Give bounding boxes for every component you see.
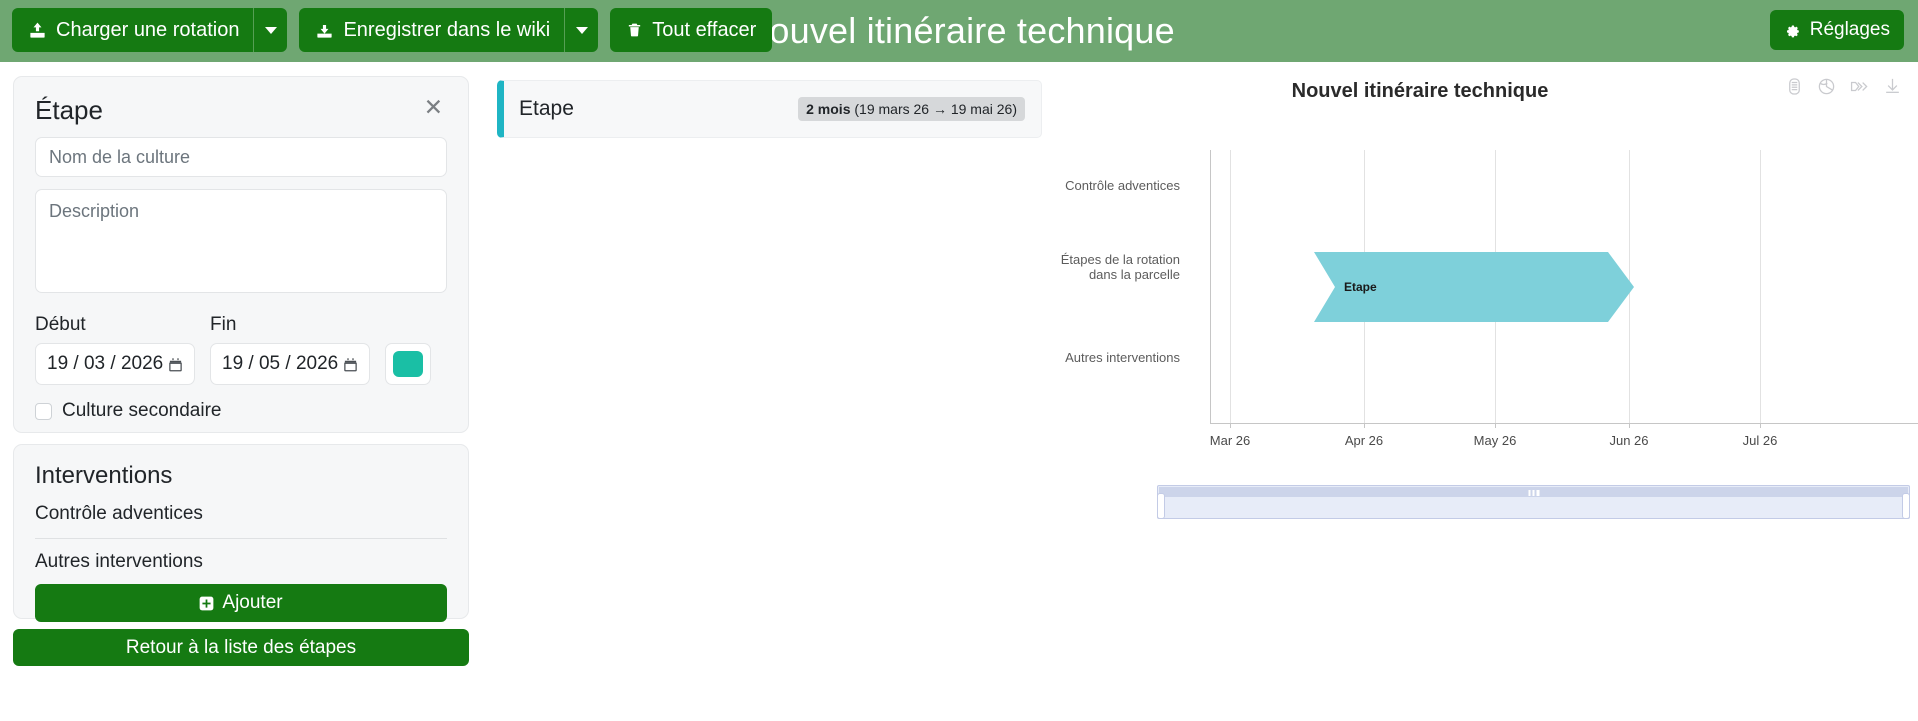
add-intervention-label: Ajouter [222, 592, 282, 614]
range-slider-bar[interactable] [1159, 487, 1908, 497]
end-date-input[interactable]: 19 / 05 / 2026 [210, 343, 370, 385]
step-date-range: (19 mars 26 → 19 mai 26) [850, 101, 1017, 117]
culture-name-input[interactable] [35, 137, 447, 177]
x-axis-tick-label-2: May 26 [1474, 433, 1517, 448]
secondary-culture-checkbox[interactable] [35, 403, 52, 420]
chevron-down-icon [265, 27, 277, 34]
x-axis-line [1210, 423, 1918, 424]
upload-icon [28, 21, 47, 40]
x-tick-4 [1760, 423, 1761, 428]
y-axis-label-2: Autres interventions [1050, 350, 1180, 365]
toolbar-right-group: Réglages [1770, 10, 1904, 50]
chevron-down-icon [576, 27, 588, 34]
add-intervention-button[interactable]: Ajouter [35, 584, 447, 622]
start-date-value: 19 / 03 / 2026 [47, 353, 163, 375]
interventions-title: Interventions [35, 462, 447, 490]
x-axis-tick-label-4: Jul 26 [1743, 433, 1778, 448]
gear-icon [1784, 22, 1801, 39]
step-duration-value: 2 mois [806, 101, 850, 117]
gantt-chart: Nouvel itinéraire technique [1040, 62, 1918, 542]
load-rotation-button[interactable]: Charger une rotation [12, 8, 253, 52]
x-axis-tick-label-0: Mar 26 [1210, 433, 1250, 448]
start-date-label: Début [35, 314, 195, 336]
y-axis-label-1: Étapes de la rotation dans la parcelle [1050, 252, 1180, 283]
start-date-input[interactable]: 19 / 03 / 2026 [35, 343, 195, 385]
y-axis-label-0: Contrôle adventices [1050, 178, 1180, 193]
x-tick-3 [1629, 423, 1630, 428]
download-icon[interactable] [1883, 76, 1902, 96]
load-rotation-split-button: Charger une rotation [12, 8, 287, 52]
step-panel-header: Étape ✕ [35, 97, 447, 123]
clear-all-label: Tout effacer [652, 19, 756, 42]
date-range-row: Début 19 / 03 / 2026 Fin 19 / 05 / 2026 [35, 314, 447, 385]
load-rotation-label: Charger une rotation [56, 19, 239, 42]
back-to-steps-button[interactable]: Retour à la liste des étapes [13, 629, 469, 666]
step-panel-title: Étape [35, 97, 103, 123]
secondary-culture-label: Culture secondaire [62, 400, 221, 422]
calendar-icon [343, 357, 358, 372]
trash-icon [626, 21, 643, 39]
chart-range-slider[interactable] [1157, 485, 1910, 525]
end-date-label: Fin [210, 314, 370, 336]
end-date-value: 19 / 05 / 2026 [222, 353, 338, 375]
settings-button[interactable]: Réglages [1770, 10, 1904, 50]
top-toolbar: Nouvel itinéraire technique Charger une … [0, 0, 1918, 62]
y-axis-line [1210, 150, 1211, 423]
description-input[interactable] [35, 189, 447, 293]
interventions-panel: Interventions Contrôle adventices Autres… [13, 444, 469, 619]
x-tick-2 [1495, 423, 1496, 428]
list-icon[interactable] [1785, 77, 1804, 96]
close-icon[interactable]: ✕ [420, 97, 447, 120]
chart-plot-area: Contrôle adventices Étapes de la rotatio… [1040, 112, 1918, 442]
x-axis-tick-label-3: Jun 26 [1609, 433, 1648, 448]
gridline-mar [1230, 150, 1231, 423]
chart-title: Nouvel itinéraire technique [1040, 80, 1800, 103]
gridline-jul [1760, 150, 1761, 423]
step-list-item-name: Etape [519, 97, 574, 121]
calendar-icon [168, 357, 183, 372]
chevrons-icon[interactable] [1849, 77, 1870, 96]
download-icon [315, 21, 334, 40]
range-slider-grip[interactable] [1528, 490, 1539, 496]
intervention-item-other[interactable]: Autres interventions [35, 539, 447, 575]
end-date-group: Fin 19 / 05 / 2026 [210, 314, 370, 385]
range-slider-track[interactable] [1157, 485, 1910, 519]
save-wiki-split-button: Enregistrer dans le wiki [299, 8, 598, 52]
gantt-bar-label: Etape [1344, 280, 1377, 294]
start-date-group: Début 19 / 03 / 2026 [35, 314, 195, 385]
step-list-item[interactable]: Etape 2 mois (19 mars 26 → 19 mai 26) [497, 80, 1042, 138]
x-tick-1 [1364, 423, 1365, 428]
settings-label: Réglages [1810, 19, 1890, 41]
save-wiki-dropdown-toggle[interactable] [564, 8, 598, 52]
step-color-picker[interactable] [385, 343, 431, 385]
plus-square-icon [199, 596, 214, 611]
x-tick-0 [1230, 423, 1231, 428]
range-slider-handle-left[interactable] [1157, 493, 1165, 519]
step-duration-badge: 2 mois (19 mars 26 → 19 mai 26) [798, 97, 1025, 121]
toolbar-left-group: Charger une rotation Enregistrer dans le… [12, 8, 772, 52]
save-wiki-button[interactable]: Enregistrer dans le wiki [299, 8, 564, 52]
intervention-item-weed-control[interactable]: Contrôle adventices [35, 500, 447, 539]
gantt-bar-etape[interactable]: Etape [1314, 252, 1634, 322]
x-axis-tick-label-1: Apr 26 [1345, 433, 1383, 448]
chart-toolbar [1785, 76, 1902, 96]
color-chip [393, 351, 423, 377]
step-editor-panel: Étape ✕ Début 19 / 03 / 2026 Fin 19 / [13, 76, 469, 433]
save-wiki-label: Enregistrer dans le wiki [343, 19, 550, 42]
clear-all-button[interactable]: Tout effacer [610, 8, 772, 52]
secondary-culture-row: Culture secondaire [35, 400, 447, 422]
load-rotation-dropdown-toggle[interactable] [253, 8, 287, 52]
pie-icon[interactable] [1817, 77, 1836, 96]
range-slider-handle-right[interactable] [1902, 493, 1910, 519]
